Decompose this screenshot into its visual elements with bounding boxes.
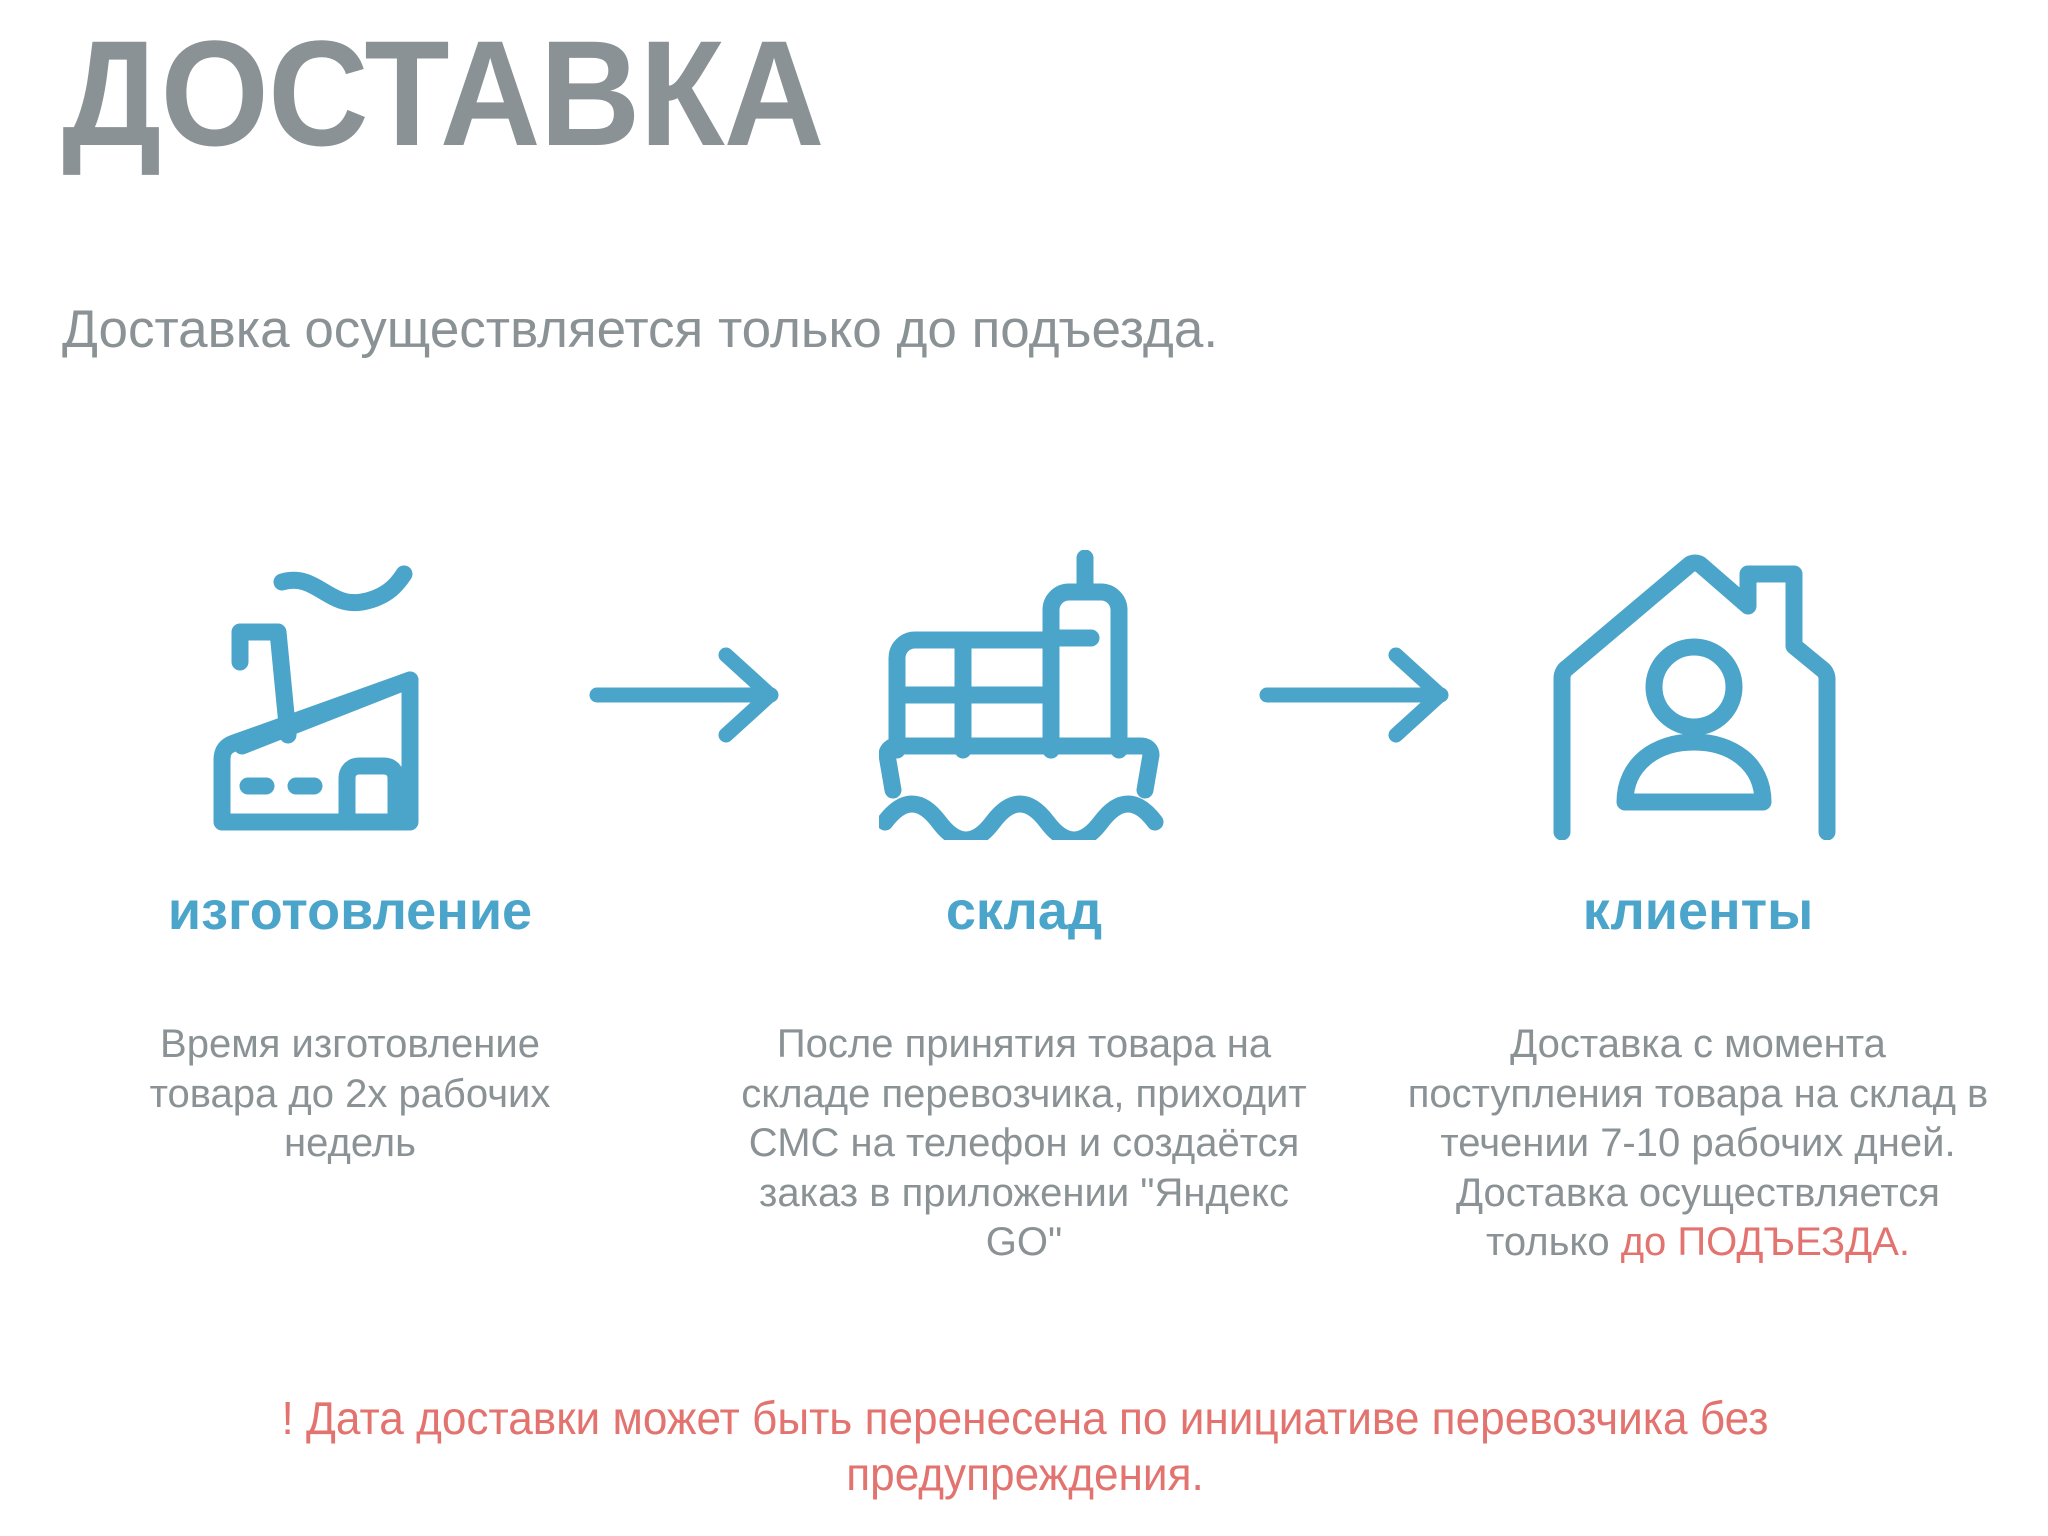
house-client-icon — [1552, 550, 1837, 840]
step-label-clients: клиенты — [1348, 880, 2048, 942]
arrow-right-icon — [1259, 645, 1459, 745]
page-subtitle: Доставка осуществляется только до подъез… — [62, 296, 1362, 364]
step-label-warehouse: склад — [700, 880, 1348, 942]
flow-arrow-2 — [1219, 635, 1499, 755]
flow-step-descriptions: Время изготовление товара до 2х рабочих … — [0, 1020, 2048, 1268]
cargo-ship-icon — [879, 550, 1169, 840]
flow-step-warehouse — [829, 530, 1219, 860]
flow-arrow-1 — [549, 635, 829, 755]
step-description-clients: Доставка с момента поступления товара на… — [1348, 1020, 2048, 1268]
flow-step-manufacturing — [159, 530, 549, 860]
arrow-right-icon — [589, 645, 789, 745]
step-description-manufacturing: Время изготовление товара до 2х рабочих … — [0, 1020, 700, 1268]
step-label-manufacturing: изготовление — [0, 880, 700, 942]
delivery-flow-diagram — [0, 530, 2048, 860]
step-description-clients-highlight: до ПОДЪЕЗДА. — [1621, 1220, 1910, 1264]
page-title: ДОСТАВКА — [62, 18, 824, 168]
delivery-warning-note: ! Дата доставки может быть перенесена по… — [156, 1390, 1894, 1502]
flow-step-clients — [1499, 530, 1889, 860]
flow-step-labels: изготовление склад клиенты — [0, 880, 2048, 942]
factory-icon — [204, 550, 504, 840]
step-description-warehouse: После принятия товара на складе перевозч… — [700, 1020, 1348, 1268]
